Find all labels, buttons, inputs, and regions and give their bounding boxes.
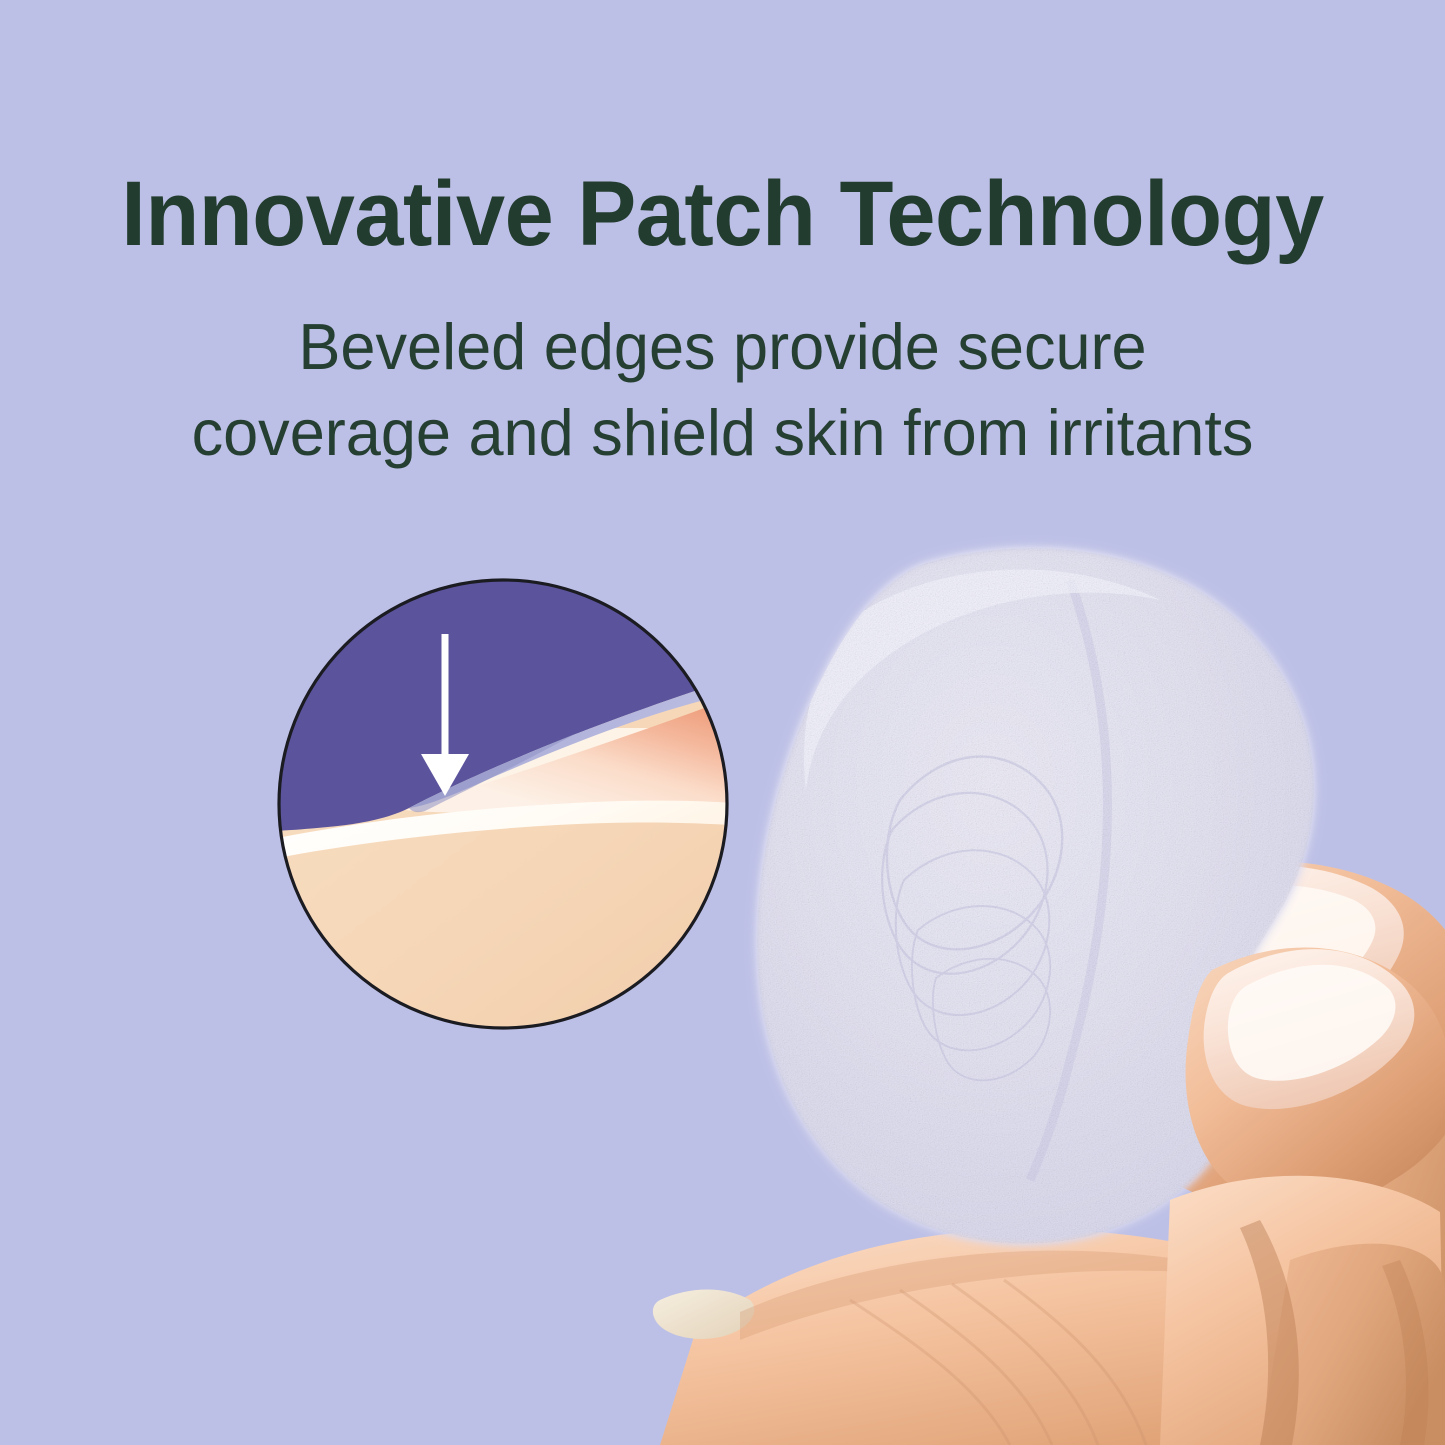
page-title: Innovative Patch Technology bbox=[29, 0, 1416, 260]
hand-fingers-front bbox=[1160, 1176, 1445, 1445]
page-subtitle: Beveled edges provide secure coverage an… bbox=[22, 260, 1424, 476]
thumb-tip-overlap bbox=[1186, 948, 1445, 1208]
text-block: Innovative Patch Technology Beveled edge… bbox=[0, 0, 1445, 476]
product-photo bbox=[600, 500, 1445, 1445]
marketing-graphic: Innovative Patch Technology Beveled edge… bbox=[0, 0, 1445, 1445]
subtitle-line-1: Beveled edges provide secure bbox=[22, 304, 1424, 390]
subtitle-line-2: coverage and shield skin from irritants bbox=[22, 390, 1424, 476]
